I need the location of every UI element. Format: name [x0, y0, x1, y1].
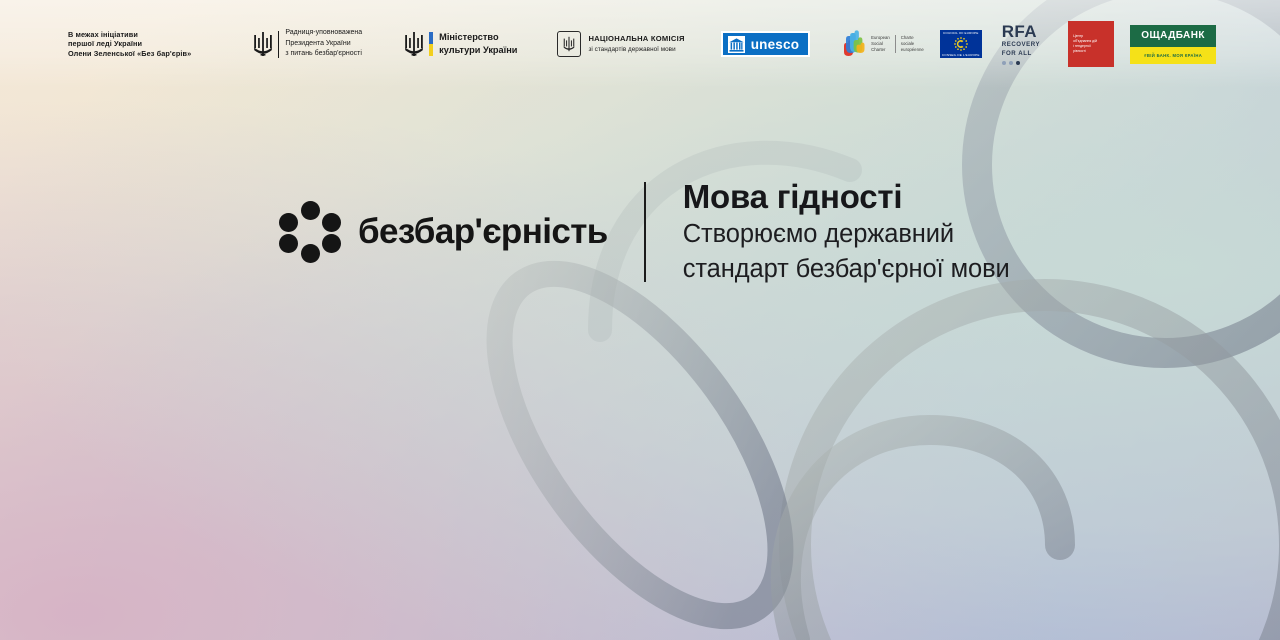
commission-title: НАЦІОНАЛЬНА КОМІСІЯ — [588, 34, 684, 44]
logo-social-change-center: Центр об'єднання дій і гендерної рівност… — [1068, 21, 1114, 67]
commission-subtitle: зі стандартів державної мови — [588, 46, 684, 54]
unesco-temple-icon — [728, 36, 745, 53]
logo-council-of-europe: COUNCIL OF EUROPE CONSEIL DE L'EUROPE — [940, 30, 982, 58]
hands-icon — [844, 30, 866, 58]
vertical-divider — [644, 182, 646, 282]
oschadbank-tagline: #ВІЙ БАНК. МОЯ КРАЇНА — [1144, 53, 1202, 58]
logo-european-social-charter: European Social Charter Charte sociale e… — [844, 30, 924, 58]
logo-recovery-for-all: RFA RECOVERY FOR ALL — [1002, 23, 1040, 64]
headline-block: Мова гідності Створюємо державний станда… — [683, 178, 1010, 286]
page-title: Мова гідності — [683, 178, 1010, 216]
bezbarjernist-logo: безбар'єрність — [279, 201, 608, 263]
main-lockup: безбар'єрність Мова гідності Створюємо д… — [279, 178, 1010, 286]
background — [0, 0, 1280, 640]
rfa-abbr: RFA — [1002, 23, 1040, 40]
logo-initiative: В межах ініціативи першої леді України О… — [68, 30, 191, 59]
logo-unesco: unesco — [721, 31, 810, 57]
ukraine-flag-icon — [429, 32, 433, 56]
charter-fr-3: européenne — [901, 47, 924, 53]
page-subtitle-line-2: стандарт безбар'єрної мови — [683, 253, 1010, 286]
center-line-4: рівності — [1073, 49, 1097, 54]
charter-en-3: Charter — [871, 47, 890, 53]
trident-icon — [253, 30, 273, 58]
ring-arc-lower-center — [786, 430, 1060, 640]
decorative-rings — [0, 0, 1280, 640]
divider — [278, 31, 279, 58]
unesco-wordmark: unesco — [751, 37, 799, 52]
adviser-line-2: Президента України — [285, 39, 362, 50]
page-subtitle-line-1: Створюємо державний — [683, 218, 1010, 251]
logo-oschadbank: ОЩАДБАНК #ВІЙ БАНК. МОЯ КРАЇНА — [1130, 25, 1216, 64]
ministry-line-1: Міністерство — [439, 31, 517, 44]
initiative-line-2: першої леді України — [68, 39, 191, 49]
logo-national-commission: НАЦІОНАЛЬНА КОМІСІЯ зі стандартів держав… — [557, 31, 684, 57]
ministry-line-2: культури України — [439, 44, 517, 57]
oschadbank-wordmark: ОЩАДБАНК — [1141, 30, 1205, 41]
logo-presidential-adviser: Радниця-уповноважена Президента України … — [253, 28, 362, 60]
seal-trident-icon — [557, 31, 581, 57]
bezbarjernist-wordmark: безбар'єрність — [358, 212, 608, 252]
rfa-line-2: FOR ALL — [1002, 50, 1040, 58]
adviser-line-3: з питань безбар'єрності — [285, 49, 362, 60]
rfa-dots-icon — [1002, 61, 1040, 65]
divider — [895, 35, 896, 54]
trident-icon — [404, 30, 424, 58]
six-dot-circle-icon — [279, 201, 341, 263]
coe-bottom-label: CONSEIL DE L'EUROPE — [942, 53, 980, 57]
europe-stars-icon — [953, 36, 969, 52]
initiative-line-1: В межах ініціативи — [68, 30, 191, 40]
partner-logo-strip: В межах ініціативи першої леді України О… — [0, 0, 1280, 88]
rfa-line-1: RECOVERY — [1002, 41, 1040, 49]
adviser-line-1: Радниця-уповноважена — [285, 28, 362, 39]
coe-top-label: COUNCIL OF EUROPE — [943, 31, 978, 35]
charter-en-1: European — [871, 35, 890, 41]
logo-ministry-of-culture: Міністерство культури України — [404, 30, 517, 58]
initiative-line-3: Олени Зеленської «Без бар'єрів» — [68, 49, 191, 59]
